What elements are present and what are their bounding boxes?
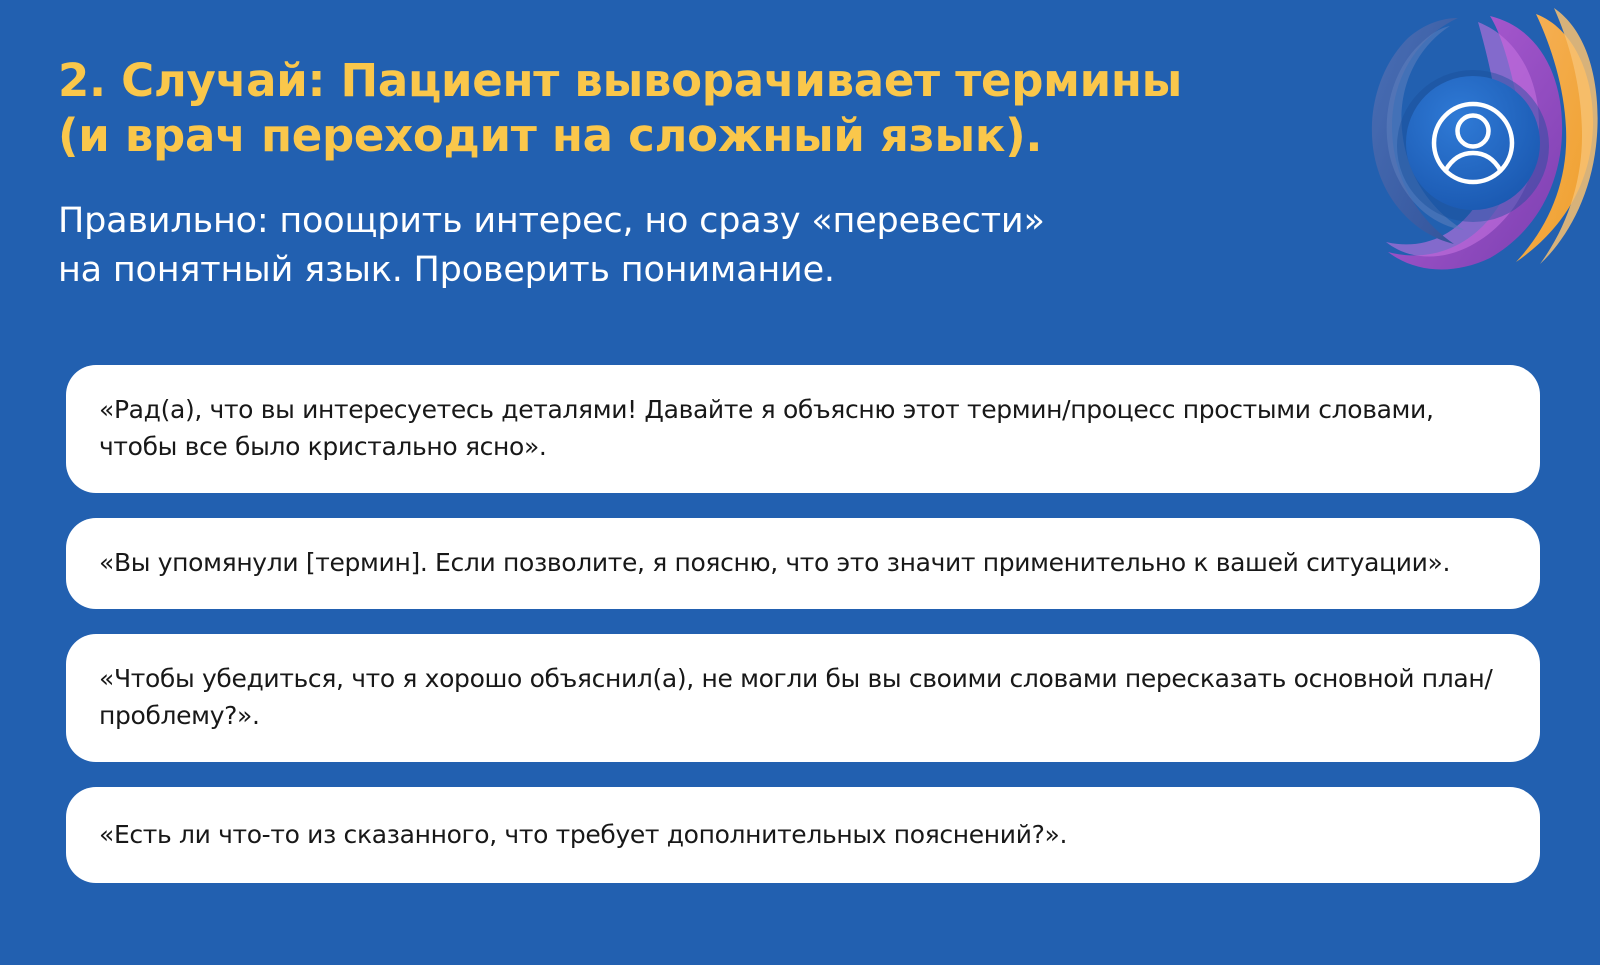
avatar-badge	[1406, 76, 1540, 210]
corner-decoration	[1340, 0, 1600, 300]
slide-subtitle: Правильно: поощрить интерес, но сразу «п…	[58, 164, 1348, 295]
phrase-card-4: «Есть ли что-то из сказанного, что требу…	[66, 787, 1540, 883]
phrase-card-text: «Чтобы убедиться, что я хорошо объяснил(…	[99, 660, 1507, 734]
phrase-card-2: «Вы упомянули [термин]. Если позволите, …	[66, 518, 1540, 609]
slide-header: 2. Случай: Пациент выворачивает термины …	[58, 54, 1348, 295]
phrase-card-text: «Есть ли что-то из сказанного, что требу…	[99, 816, 1507, 853]
slide-title: 2. Случай: Пациент выворачивает термины …	[58, 54, 1348, 164]
phrase-card-3: «Чтобы убедиться, что я хорошо объяснил(…	[66, 634, 1540, 762]
phrase-card-text: «Вы упомянули [термин]. Если позволите, …	[99, 544, 1507, 581]
user-avatar-icon	[1434, 104, 1512, 182]
phrase-card-list: «Рад(а), что вы интересуетесь деталями! …	[66, 365, 1540, 883]
phrase-card-1: «Рад(а), что вы интересуетесь деталями! …	[66, 365, 1540, 493]
decorative-swirl-graphic	[1340, 0, 1600, 300]
slide-root: 2. Случай: Пациент выворачивает термины …	[0, 0, 1600, 965]
phrase-card-text: «Рад(а), что вы интересуетесь деталями! …	[99, 391, 1507, 465]
